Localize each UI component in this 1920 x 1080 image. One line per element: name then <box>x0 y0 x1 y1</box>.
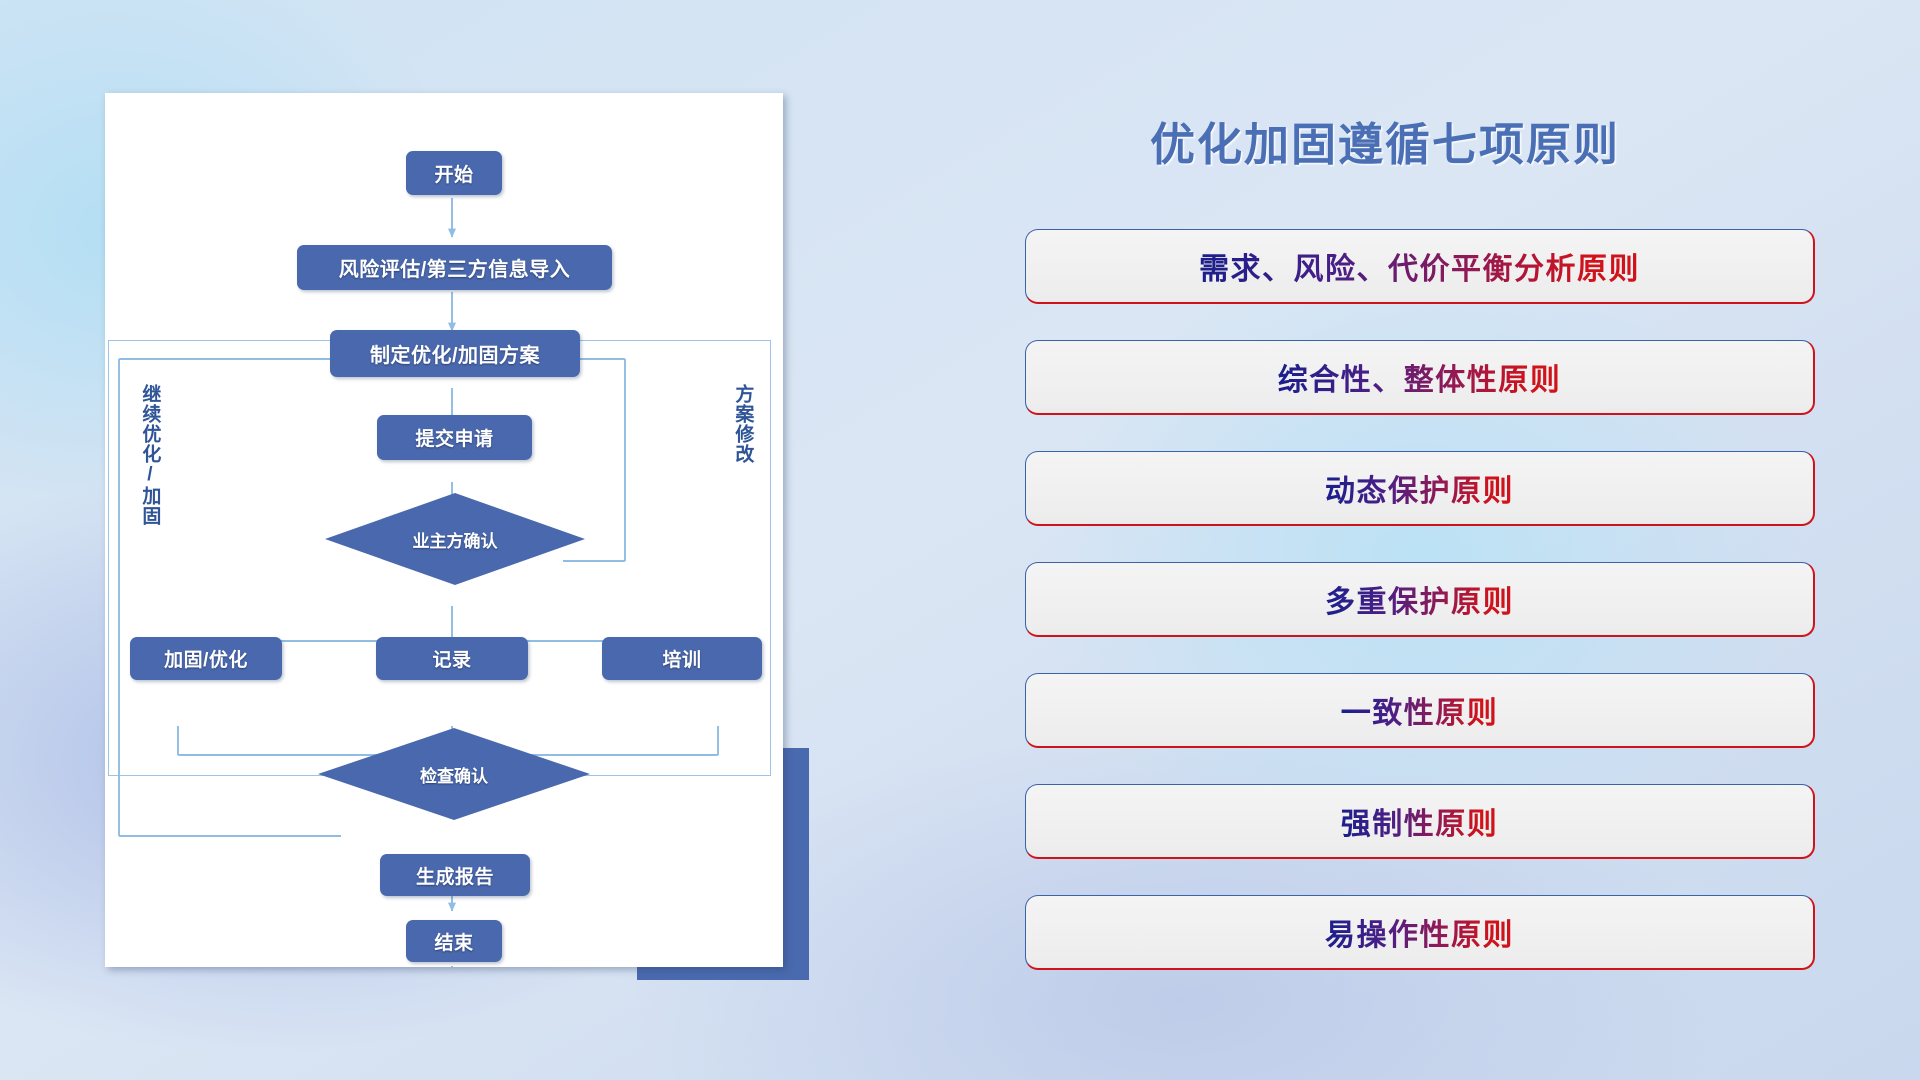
principle-item-3[interactable]: 动态保护原则 <box>1025 451 1815 526</box>
flow-node-record[interactable]: 记录 <box>376 637 528 680</box>
flow-node-risk-assessment[interactable]: 风险评估/第三方信息导入 <box>297 245 612 290</box>
principle-item-2[interactable]: 综合性、整体性原则 <box>1025 340 1815 415</box>
flow-node-training[interactable]: 培训 <box>602 637 762 680</box>
principle-item-7-label: 易操作性原则 <box>1325 910 1514 954</box>
flow-node-reinforce-label: 加固/优化 <box>164 645 248 672</box>
flow-node-plan[interactable]: 制定优化/加固方案 <box>330 330 580 377</box>
principles-list: 需求、风险、代价平衡分析原则 综合性、整体性原则 动态保护原则 多重保护原则 一… <box>1025 229 1815 1006</box>
panel-title: 优化加固遵循七项原则 <box>1150 108 1620 173</box>
principle-item-1[interactable]: 需求、风险、代价平衡分析原则 <box>1025 229 1815 304</box>
principle-item-4[interactable]: 多重保护原则 <box>1025 562 1815 637</box>
edge-label-plan-revision: 方案修改 <box>733 384 752 464</box>
flow-node-risk-assessment-label: 风险评估/第三方信息导入 <box>339 253 571 282</box>
slide-canvas: 开始 风险评估/第三方信息导入 制定优化/加固方案 提交申请 业主方确认 加固/… <box>0 0 1920 1080</box>
principle-item-5-label: 一致性原则 <box>1341 688 1499 732</box>
flow-node-submit-application[interactable]: 提交申请 <box>377 415 532 460</box>
flow-node-start-label: 开始 <box>434 160 473 187</box>
flowchart-panel: 开始 风险评估/第三方信息导入 制定优化/加固方案 提交申请 业主方确认 加固/… <box>0 0 960 1080</box>
principle-item-6-label: 强制性原则 <box>1341 799 1499 843</box>
principle-item-1-label: 需求、风险、代价平衡分析原则 <box>1199 244 1640 288</box>
flow-node-record-label: 记录 <box>432 645 471 672</box>
flow-node-end-label: 结束 <box>434 928 473 955</box>
flow-node-generate-report[interactable]: 生成报告 <box>380 854 530 896</box>
principle-item-5[interactable]: 一致性原则 <box>1025 673 1815 748</box>
flow-node-check-confirm-label: 检查确认 <box>420 762 488 787</box>
principle-item-4-label: 多重保护原则 <box>1325 577 1514 621</box>
flow-node-training-label: 培训 <box>662 645 701 672</box>
principle-item-7[interactable]: 易操作性原则 <box>1025 895 1815 970</box>
flow-node-owner-confirm-label: 业主方确认 <box>413 527 498 552</box>
principle-item-2-label: 综合性、整体性原则 <box>1278 355 1562 399</box>
edge-label-continue-optimize: 继续优化/加固 <box>140 384 159 526</box>
flow-node-reinforce[interactable]: 加固/优化 <box>130 637 282 680</box>
principle-item-3-label: 动态保护原则 <box>1325 466 1514 510</box>
flow-node-generate-report-label: 生成报告 <box>416 862 494 889</box>
principles-panel: 优化加固遵循七项原则 需求、风险、代价平衡分析原则 综合性、整体性原则 动态保护… <box>1010 0 1840 1080</box>
flow-node-end[interactable]: 结束 <box>406 920 502 962</box>
principle-item-6[interactable]: 强制性原则 <box>1025 784 1815 859</box>
flow-node-submit-application-label: 提交申请 <box>415 424 493 451</box>
flow-node-plan-label: 制定优化/加固方案 <box>370 339 540 368</box>
flow-node-start[interactable]: 开始 <box>406 151 502 195</box>
